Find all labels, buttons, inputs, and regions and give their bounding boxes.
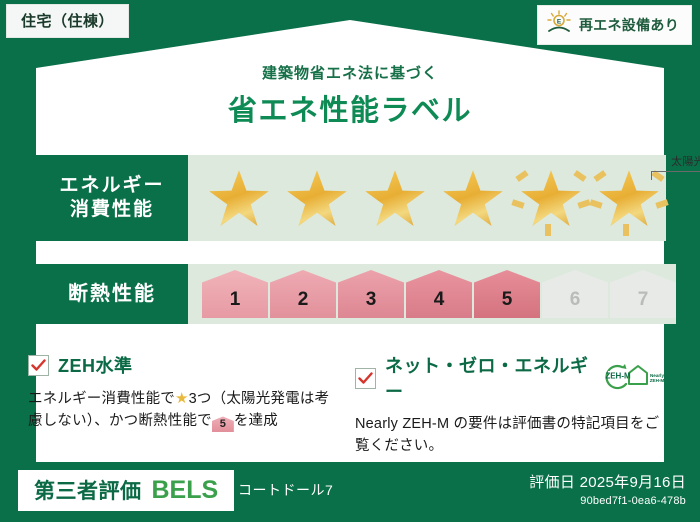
check-icon	[355, 368, 376, 389]
footer-bar: 第三者評価 BELS コートドール7 評価日 2025年9月16日 90bed7…	[0, 462, 700, 522]
star-icon-solar	[514, 161, 588, 235]
title-subtitle: 建築物省エネ法に基づく	[0, 62, 700, 83]
star-icon	[280, 161, 354, 235]
sun-renewable-icon: E	[546, 10, 572, 39]
inline-grade-badge: 5	[212, 416, 234, 432]
energy-performance-label-box: エネルギー 消費性能	[36, 155, 188, 241]
star-icon	[358, 161, 432, 235]
star-icon	[436, 161, 510, 235]
evaluation-date: 評価日 2025年9月16日	[529, 471, 686, 492]
energy-performance-label: 住宅（住棟） E 再エネ設備あり 建築物省エネ法に基づく 省エネ性能ラベル	[0, 0, 700, 522]
grade-badge: 5	[474, 270, 540, 318]
zeh-level-heading: ZEH水準	[28, 352, 333, 378]
zeh-level-section: ZEH水準 エネルギー消費性能で★3つ（太陽光発電は考慮しない）、かつ断熱性能で…	[28, 352, 333, 433]
net-zero-energy-section: ネット・ゼロ・エネルギー ZEH-M Nearly ZEH-M Nearly Z…	[355, 352, 665, 458]
star-icon	[202, 161, 276, 235]
solar-annotation-bracket	[651, 171, 700, 180]
zeh-m-logo-icon: ZEH-M Nearly ZEH-M	[605, 361, 665, 396]
evaluation-id: 90bed7f1-0ea6-478b	[529, 495, 686, 507]
grade-badge: 2	[270, 270, 336, 318]
third-party-evaluation-label: 第三者評価	[34, 475, 142, 505]
solar-annotation-label: 太陽光発電(自家消費)分	[651, 153, 700, 169]
insulation-grade-panel: 1 2 3 4 5 6 7	[188, 264, 676, 324]
bels-certification-box: 第三者評価 BELS	[18, 470, 234, 511]
renewable-equipment-badge: E 再エネ設備あり	[537, 5, 692, 45]
grade-badge: 7	[610, 270, 676, 318]
housing-type-tag: 住宅（住棟）	[6, 4, 129, 38]
svg-text:ZEH-M: ZEH-M	[650, 378, 665, 383]
inline-star-icon: ★	[175, 387, 189, 410]
energy-label-line1: エネルギー	[59, 174, 164, 198]
housing-type-label: 住宅（住棟）	[21, 13, 114, 30]
grade-badge: 1	[202, 270, 268, 318]
zeh-level-description: エネルギー消費性能で★3つ（太陽光発電は考慮しない）、かつ断熱性能で5を達成	[28, 387, 333, 433]
zeh-desc-part3: を達成	[234, 413, 278, 429]
net-zero-energy-title: ネット・ゼロ・エネルギー	[385, 352, 590, 404]
energy-label-line2: 消費性能	[70, 198, 154, 222]
bels-mark: BELS	[152, 476, 219, 505]
insulation-performance-label-box: 断熱性能	[36, 264, 188, 324]
grade-badge: 4	[406, 270, 472, 318]
check-icon	[28, 355, 49, 376]
insulation-performance-row: 断熱性能 1 2 3 4 5 6 7	[36, 264, 664, 324]
page-title: 省エネ性能ラベル	[0, 87, 700, 129]
net-zero-energy-heading: ネット・ゼロ・エネルギー ZEH-M Nearly ZEH-M	[355, 352, 665, 404]
energy-star-panel: 太陽光発電(自家消費)分	[188, 155, 666, 241]
energy-star-rating	[188, 155, 666, 241]
svg-text:ZEH-M: ZEH-M	[605, 371, 631, 380]
zeh-desc-part1: エネルギー消費性能で	[28, 391, 175, 407]
grade-badge: 3	[338, 270, 404, 318]
net-zero-energy-description: Nearly ZEH-M の要件は評価書の特記項目をご覧ください。	[355, 413, 665, 458]
title-block: 建築物省エネ法に基づく 省エネ性能ラベル	[0, 62, 700, 129]
insulation-label: 断熱性能	[68, 282, 156, 307]
evaluation-meta: 評価日 2025年9月16日 90bed7f1-0ea6-478b	[529, 471, 686, 507]
zeh-level-title: ZEH水準	[58, 352, 133, 378]
property-name: コートドール7	[238, 480, 333, 500]
grade-badge: 6	[542, 270, 608, 318]
solar-generation-annotation: 太陽光発電(自家消費)分	[651, 153, 700, 180]
insulation-grade-scale: 1 2 3 4 5 6 7	[188, 264, 676, 324]
energy-performance-row: エネルギー 消費性能 太陽光発電(自家消費)分	[36, 155, 664, 241]
renewable-badge-label: 再エネ設備あり	[579, 15, 679, 35]
svg-text:E: E	[557, 19, 562, 26]
